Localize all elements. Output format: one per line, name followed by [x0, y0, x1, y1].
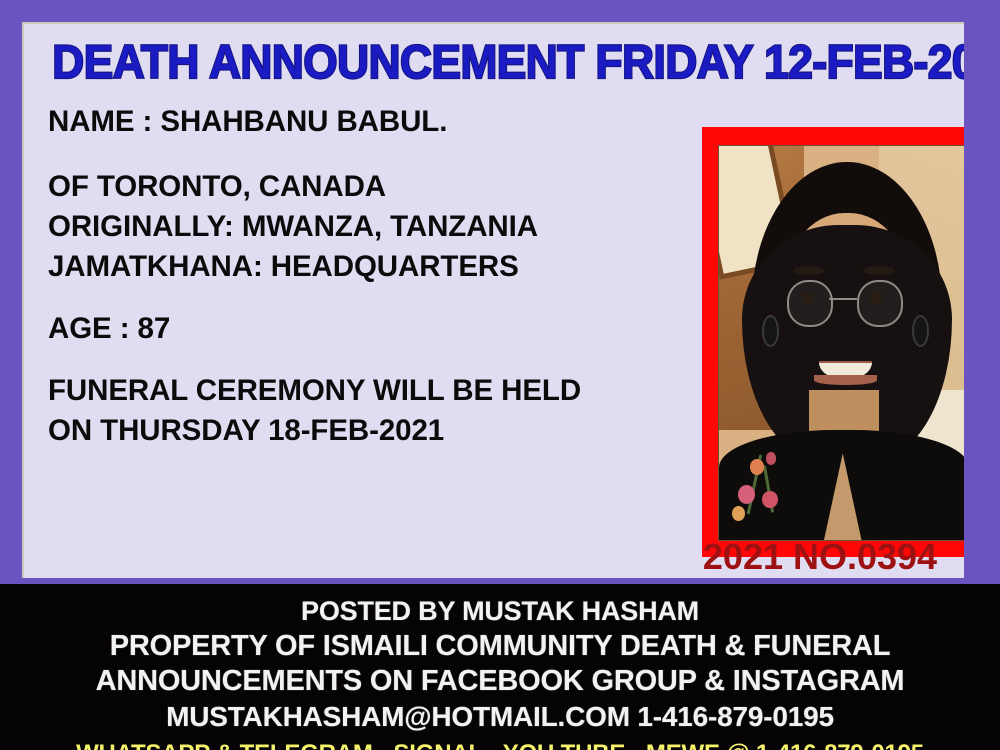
- spacer: [48, 287, 678, 309]
- detail-origin: ORIGINALLY: MWANZA, TANZANIA: [48, 207, 678, 247]
- portrait-eye-left: [802, 292, 813, 305]
- footer-social-line: WHATSAPP & TELEGRAM - SIGNAL - YOU TUBE …: [0, 734, 1000, 750]
- detail-age: AGE : 87: [48, 309, 678, 349]
- portrait-eyebrow-left: [793, 266, 826, 275]
- death-announcement-poster: DEATH ANNOUNCEMENT FRIDAY 12-FEB-2021 NA…: [0, 0, 1000, 750]
- eyeglasses-lens-left: [787, 280, 834, 327]
- detail-name: NAME : SHAHBANU BABUL.: [48, 102, 678, 142]
- detail-location: OF TORONTO, CANADA: [48, 167, 678, 207]
- portrait-eyebrow-right: [863, 266, 896, 275]
- footer-announcements-line: ANNOUNCEMENTS ON FACEBOOK GROUP & INSTAG…: [0, 664, 1000, 699]
- eyeglasses-lens-right: [857, 280, 904, 327]
- reference-number: 2021 NO.0394: [678, 536, 962, 578]
- footer-posted-by: POSTED BY MUSTAK HASHAM: [0, 584, 1000, 629]
- portrait-earring-left: [762, 315, 779, 347]
- announcement-card: DEATH ANNOUNCEMENT FRIDAY 12-FEB-2021 NA…: [22, 22, 964, 578]
- eyeglasses-bridge: [829, 298, 857, 300]
- portrait-frame: [702, 127, 964, 557]
- portrait-eye-right: [870, 292, 881, 305]
- spacer: [48, 142, 678, 167]
- footer-text-stack: POSTED BY MUSTAK HASHAM PROPERTY OF ISMA…: [0, 584, 1000, 750]
- portrait-earring-right: [912, 315, 929, 347]
- portrait-floral-pattern: [727, 445, 792, 532]
- detail-funeral-line-2: ON THURSDAY 18-FEB-2021: [48, 411, 678, 451]
- footer-property-line: PROPERTY OF ISMAILI COMMUNITY DEATH & FU…: [0, 629, 1000, 664]
- spacer: [48, 349, 678, 371]
- portrait-lower-lip: [814, 375, 877, 384]
- footer-credit-block: POSTED BY MUSTAK HASHAM PROPERTY OF ISMA…: [0, 584, 1000, 750]
- footer-contact-line: MUSTAKHASHAM@HOTMAIL.COM 1-416-879-0195: [0, 699, 1000, 734]
- page-title: DEATH ANNOUNCEMENT FRIDAY 12-FEB-2021: [52, 34, 937, 90]
- detail-funeral-line-1: FUNERAL CEREMONY WILL BE HELD: [48, 371, 678, 411]
- detail-jamatkhana: JAMATKHANA: HEADQUARTERS: [48, 247, 678, 287]
- announcement-details: NAME : SHAHBANU BABUL. OF TORONTO, CANAD…: [48, 102, 678, 451]
- portrait-photo: [718, 145, 964, 541]
